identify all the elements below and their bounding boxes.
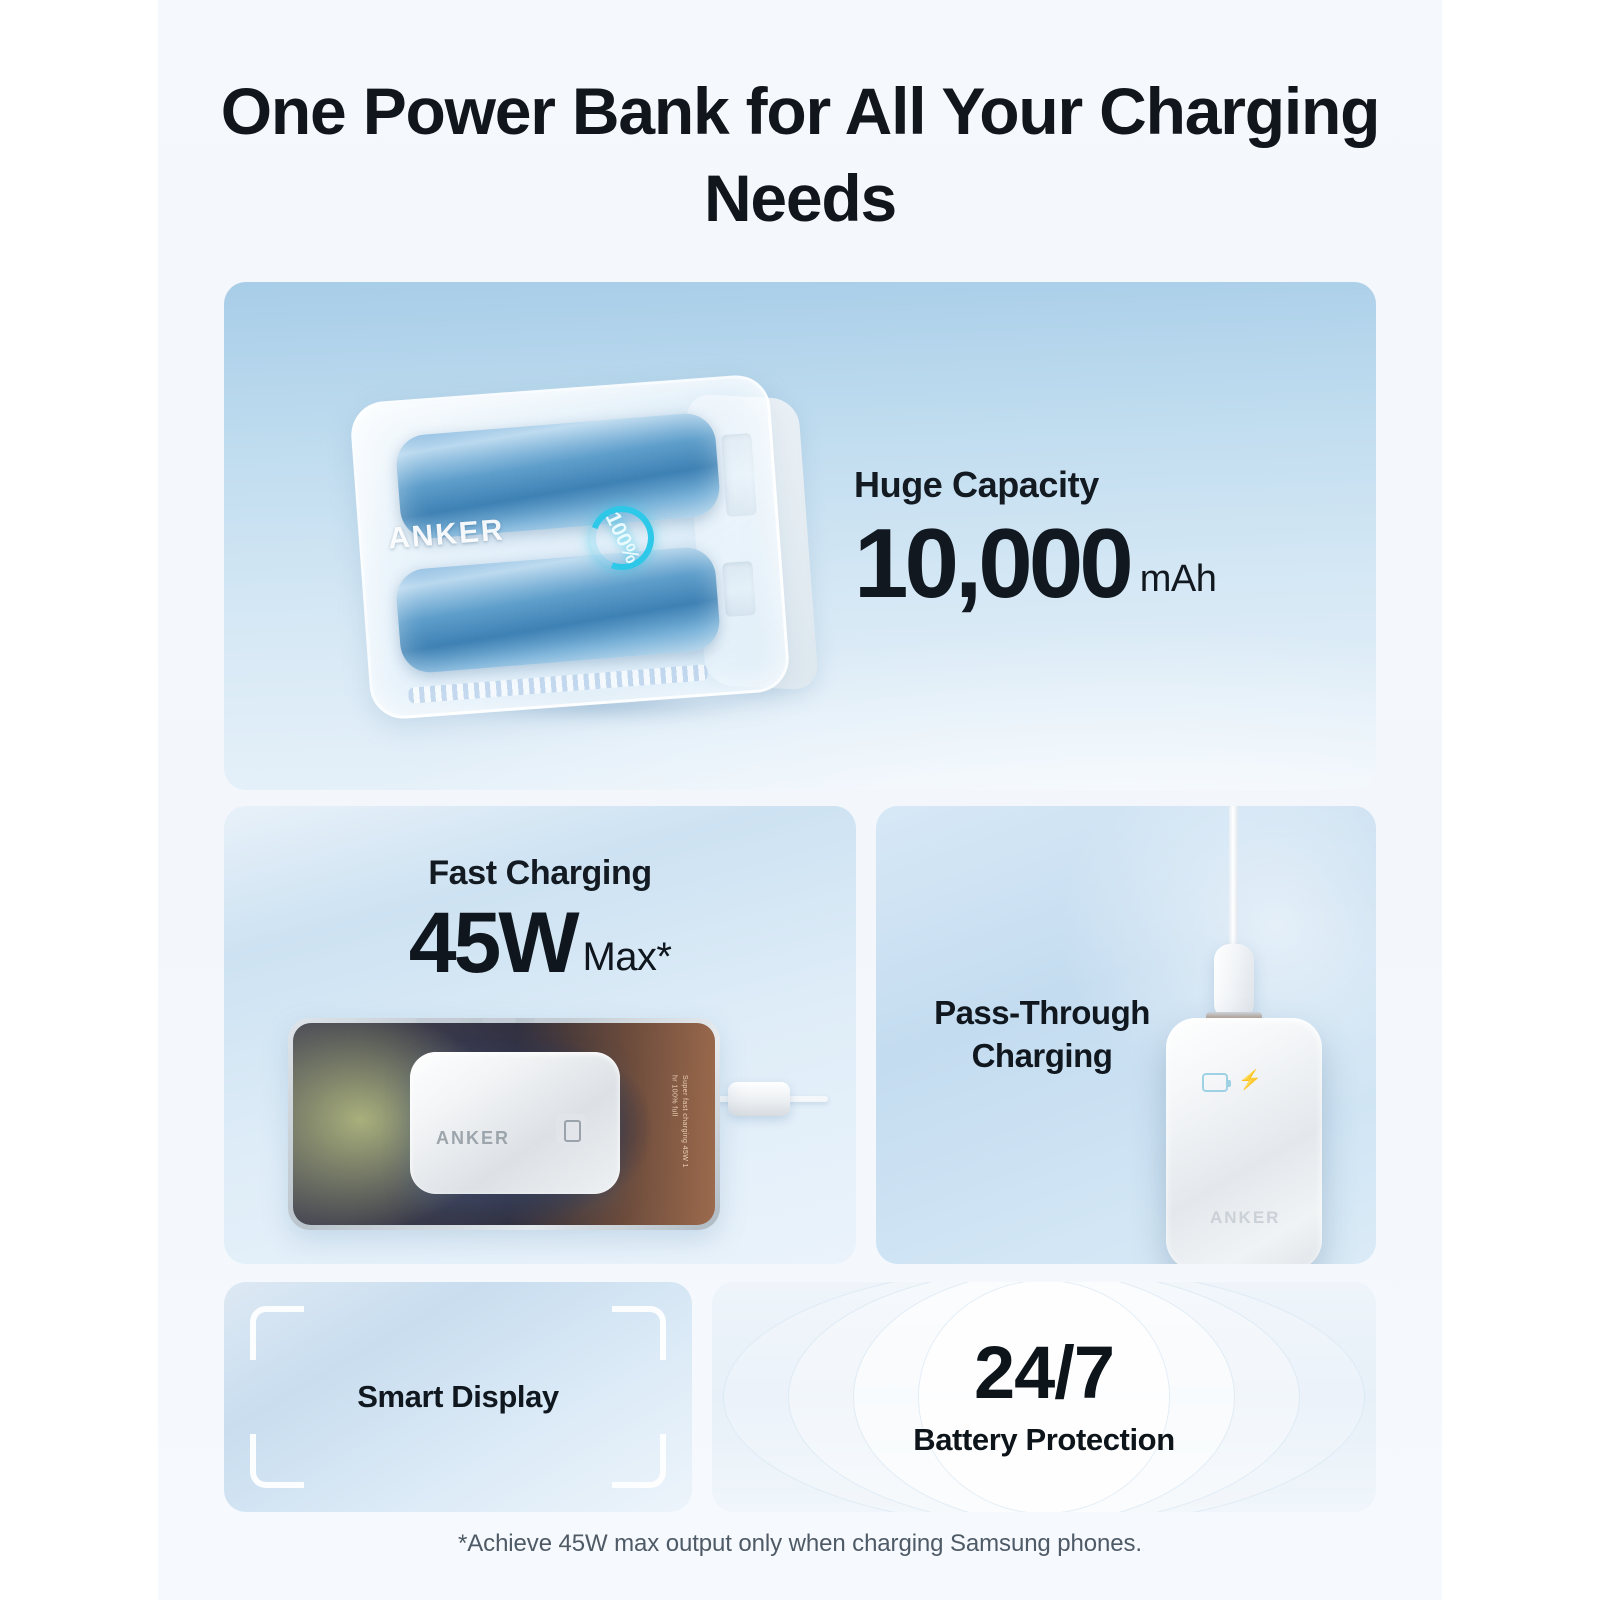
smart-display-screen: ⚡ (1202, 1070, 1268, 1096)
huge-capacity-caption: Huge Capacity 10,000 mAh (854, 464, 1324, 608)
pass-through-title-line2: Charging (912, 1035, 1172, 1078)
fast-charging-kicker: Fast Charging (224, 854, 856, 893)
phone-and-power-bank-render: Super fast charging 45W 1 hr 100% full A… (268, 1004, 828, 1244)
battery-display-icon (556, 1114, 586, 1144)
phone-screen-microtext: Super fast charging 45W 1 hr 100% full (675, 1075, 689, 1175)
capacity-value-group: 10,000 mAh (854, 518, 1324, 608)
usb-c-plug-icon (728, 1082, 790, 1116)
capacity-unit: mAh (1140, 558, 1217, 608)
pass-through-charging-panel: Pass-Through Charging ⚡ ANKER (876, 806, 1376, 1264)
pass-through-title-line1: Pass-Through (912, 992, 1172, 1035)
fast-charging-unit: Max* (583, 935, 672, 986)
power-bank-vertical: ⚡ ANKER (1166, 1018, 1322, 1264)
battery-protection-panel: 24/7 Battery Protection (712, 1282, 1376, 1512)
battery-icon (1202, 1073, 1228, 1092)
huge-capacity-panel: ANKER 100% Huge Capacity 10,000 mAh (224, 282, 1376, 790)
power-bank-horizontal: ANKER (410, 1052, 620, 1194)
anker-logo: ANKER (1210, 1208, 1280, 1228)
footnote-disclaimer: *Achieve 45W max output only when chargi… (158, 1530, 1442, 1558)
smart-display-panel: Smart Display (224, 1282, 692, 1512)
charge-percent-label: 100% (600, 509, 644, 568)
lightning-bolt-icon: ⚡ (1238, 1071, 1262, 1090)
battery-protection-value: 24/7 (974, 1336, 1114, 1410)
usb-c-plug-icon (1214, 944, 1254, 1020)
pass-through-title: Pass-Through Charging (912, 992, 1172, 1078)
huge-capacity-kicker: Huge Capacity (854, 464, 1324, 506)
fast-charging-panel: Fast Charging 45W Max* Super fast chargi… (224, 806, 856, 1264)
anker-logo: ANKER (436, 1128, 510, 1149)
fast-charging-value-group: 45W Max* (224, 900, 856, 986)
smart-display-label: Smart Display (224, 1282, 692, 1512)
power-bank-transparent-render: ANKER 100% (346, 380, 846, 730)
product-feature-page: One Power Bank for All Your Charging Nee… (158, 0, 1442, 1600)
capacity-value: 10,000 (854, 518, 1130, 608)
fast-charging-value: 45W (409, 900, 577, 986)
battery-protection-content: 24/7 Battery Protection (712, 1282, 1376, 1512)
battery-protection-label: Battery Protection (913, 1422, 1175, 1458)
page-title: One Power Bank for All Your Charging Nee… (158, 68, 1442, 242)
